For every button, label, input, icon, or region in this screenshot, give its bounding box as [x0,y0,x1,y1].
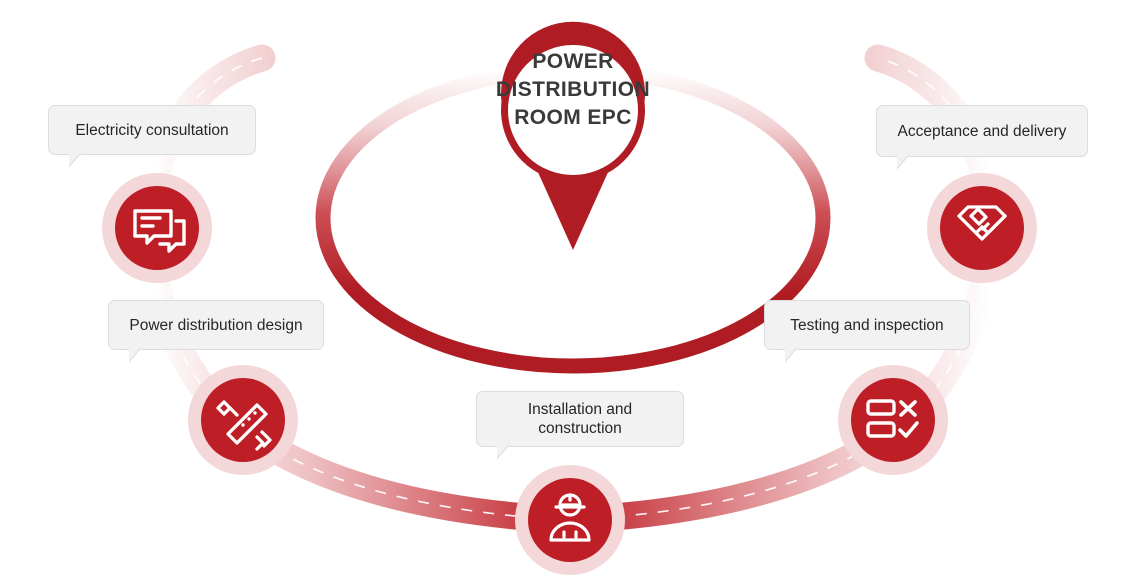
node-circle [115,186,199,270]
node-circle [851,378,935,462]
callout-tail [897,155,911,170]
step-label-text: Electricity consultation [75,121,228,140]
node-power-distribution-design[interactable] [188,365,298,475]
step-label-electricity-consultation[interactable]: Electricity consultation [48,105,256,155]
center-map-pin [501,22,645,250]
step-label-power-distribution-design[interactable]: Power distribution design [108,300,324,350]
callout-tail [69,153,83,168]
callout-tail [785,348,799,363]
node-electricity-consultation[interactable] [102,173,212,283]
step-label-line-1: Installation and [528,401,632,418]
step-label-line-2: construction [538,420,622,437]
callout-tail [129,348,143,363]
step-label-testing-inspection[interactable]: Testing and inspection [764,300,970,350]
node-acceptance-delivery[interactable] [927,173,1037,283]
step-label-text: Installation and construction [528,400,632,438]
callout-tail [497,445,511,460]
step-label-text: Testing and inspection [790,316,943,335]
step-label-acceptance-delivery[interactable]: Acceptance and delivery [876,105,1088,157]
step-label-text: Acceptance and delivery [898,122,1067,141]
node-circle [528,478,612,562]
step-label-installation-construction[interactable]: Installation and construction [476,391,684,447]
process-infographic: POWER DISTRIBUTION ROOM EPC Electricity … [0,0,1139,587]
node-installation-construction[interactable] [515,465,625,575]
diagram-canvas [0,0,1139,587]
step-label-text: Power distribution design [129,316,302,335]
node-testing-inspection[interactable] [838,365,948,475]
